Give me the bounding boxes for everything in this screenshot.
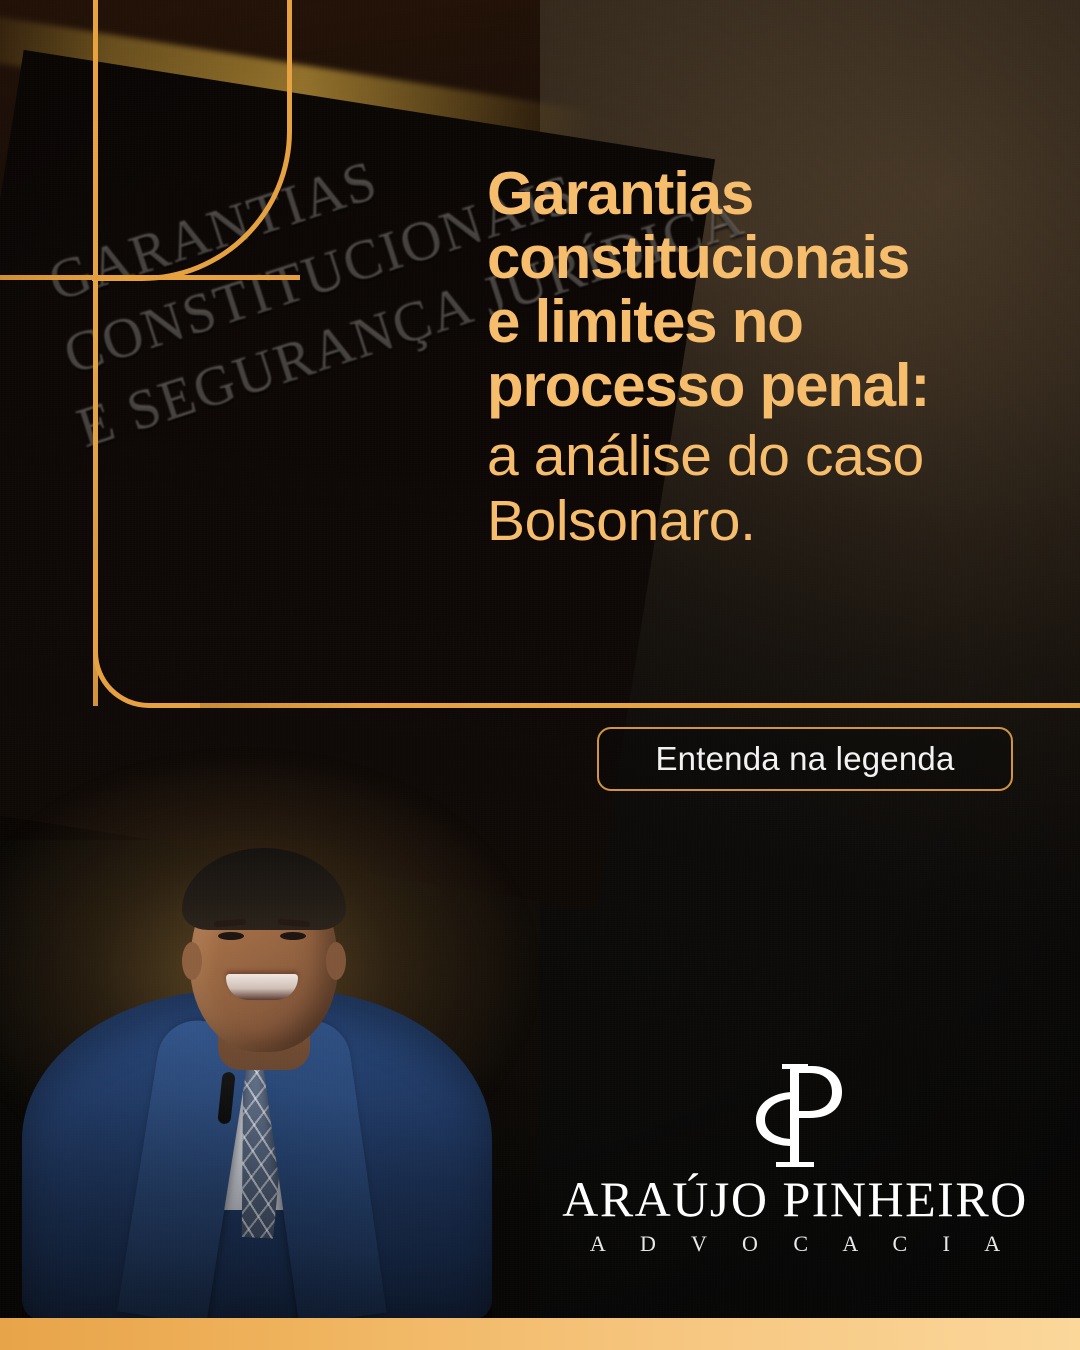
ear-right — [326, 942, 346, 980]
speaker-portrait — [22, 780, 492, 1320]
headline-block: Garantias constitucionais e limites no p… — [487, 162, 1047, 554]
decorative-horizontal-line-top — [0, 275, 300, 280]
headline-strong: Garantias constitucionais e limites no p… — [487, 162, 1047, 418]
headline-line-4: processo penal: — [487, 354, 1047, 418]
bottom-gold-bar — [0, 1318, 1080, 1350]
hair — [182, 848, 346, 930]
eye-right — [280, 932, 306, 940]
ap-monogram-icon — [734, 1062, 856, 1170]
headline-line-1: Garantias — [487, 162, 1047, 226]
brand-logo: ARAÚJO PINHEIRO A D V O C A C I A — [580, 1062, 1010, 1255]
subtitle-line-2: Bolsonaro. — [487, 489, 1047, 554]
logo-company-name: ARAÚJO PINHEIRO — [562, 1174, 1028, 1224]
headline-subtitle: a análise do caso Bolsonaro. — [487, 424, 1047, 554]
eye-left — [218, 932, 244, 940]
social-post-canvas: GARANTIAS CONSTITUCIONAIS E SEGURANÇA JU… — [0, 0, 1080, 1350]
headline-line-2: constitucionais — [487, 226, 1047, 290]
decorative-horizontal-line-bottom — [200, 703, 1080, 708]
logo-tagline: A D V O C A C I A — [575, 1233, 1015, 1255]
cta-button-label: Entenda na legenda — [655, 740, 954, 778]
subtitle-line-1: a análise do caso — [487, 424, 1047, 489]
headline-line-3: e limites no — [487, 290, 1047, 354]
smiling-mouth — [226, 974, 298, 1000]
cta-button[interactable]: Entenda na legenda — [597, 727, 1013, 791]
ear-left — [182, 942, 202, 980]
decorative-corner-bottom-left — [93, 560, 253, 708]
